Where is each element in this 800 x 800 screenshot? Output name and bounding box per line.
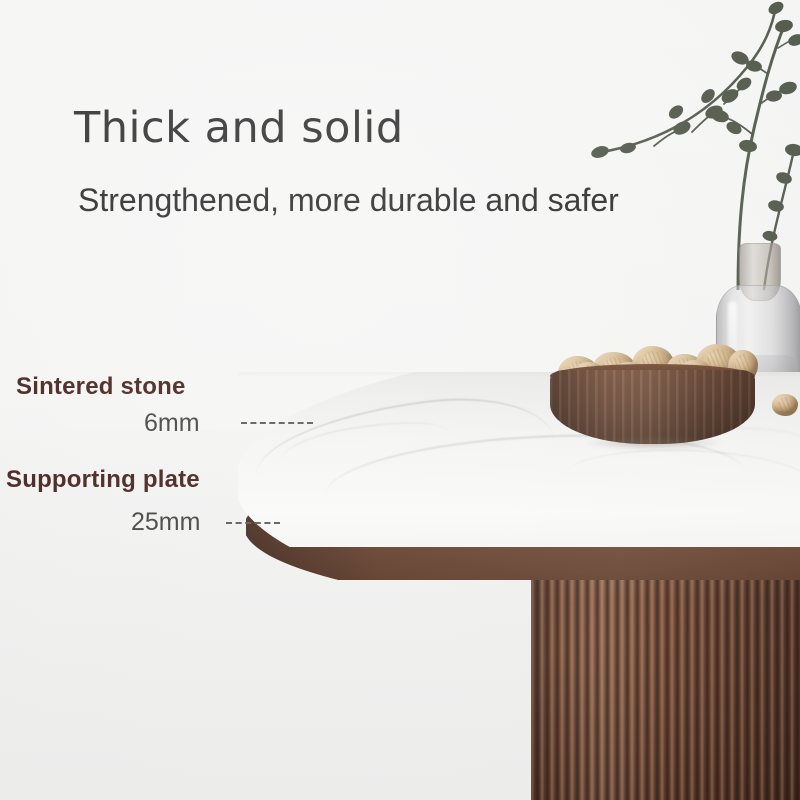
walnut-bowl xyxy=(550,356,755,446)
annotation-label-sintered-stone: Sintered stone xyxy=(16,373,186,401)
walnut-on-table xyxy=(772,394,798,416)
product-feature-image: Thick and solid Strengthened, more durab… xyxy=(0,0,800,800)
bowl-body xyxy=(550,370,755,444)
bowl-shadow xyxy=(554,434,752,452)
annotation-label-supporting-plate: Supporting plate xyxy=(6,466,200,494)
pedestal-shading xyxy=(531,548,800,800)
page-subheadline: Strengthened, more durable and safer xyxy=(78,182,619,219)
annotation-leader-line-stone xyxy=(241,422,313,424)
annotation-value-supporting-plate: 25mm xyxy=(131,508,200,537)
page-headline: Thick and solid xyxy=(74,103,404,153)
table-pedestal-base xyxy=(531,548,800,800)
annotation-value-sintered-stone: 6mm xyxy=(144,409,200,438)
annotation-leader-line-plate xyxy=(226,522,280,524)
